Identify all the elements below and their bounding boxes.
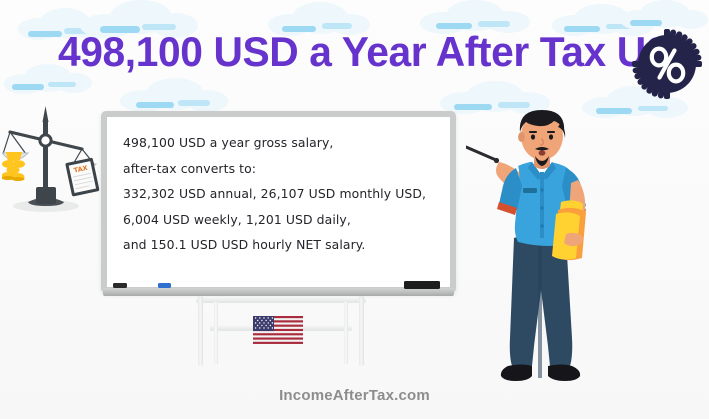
board-line: and 150.1 USD USD hourly NET salary.	[123, 232, 440, 258]
whiteboard-text: 498,100 USD a year gross salary, after-t…	[123, 130, 440, 258]
eraser-icon	[404, 281, 440, 289]
balance-scale-icon: TAX	[2, 102, 106, 214]
cloud-decoration	[440, 80, 552, 114]
pointer-stick	[466, 147, 499, 163]
site-name[interactable]: IncomeAfterTax.com	[279, 387, 430, 404]
teacher-character	[466, 110, 646, 382]
percent-badge-icon	[631, 28, 703, 100]
footer: IncomeAfterTax.com	[0, 387, 709, 405]
board-line: 332,302 USD annual, 26,107 USD monthly U…	[123, 181, 440, 207]
blue-marker-icon	[158, 283, 171, 288]
board-line: 498,100 USD a year gross salary,	[123, 130, 440, 156]
black-marker-icon	[113, 283, 127, 288]
board-line: after-tax converts to:	[123, 156, 440, 182]
us-flag-icon	[253, 316, 303, 344]
whiteboard: 498,100 USD a year gross salary, after-t…	[101, 111, 456, 293]
board-line: 6,004 USD weekly, 1,201 USD daily,	[123, 207, 440, 233]
headline-container: 498,100 USD a Year After Tax US	[0, 20, 709, 84]
whiteboard-tray	[103, 288, 454, 296]
poster-canvas: 498,100 USD a Year After Tax US	[0, 0, 709, 419]
page-title: 498,100 USD a Year After Tax US	[58, 29, 673, 75]
